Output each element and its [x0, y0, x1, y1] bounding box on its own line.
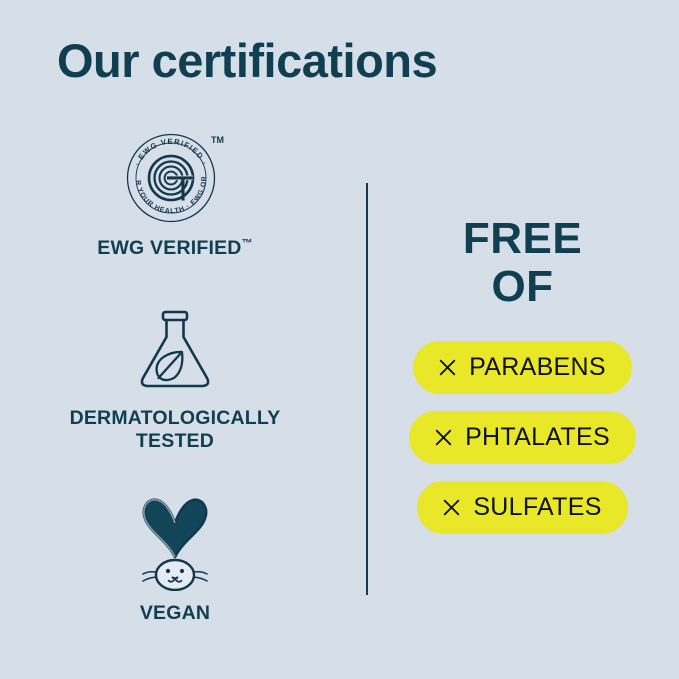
certification-item-vegan: VEGAN [0, 495, 350, 625]
page-title: Our certifications [57, 36, 437, 85]
certification-item-ewg: · EWG VERIFIED · · FOR YOUR HEALTH · EWG… [0, 130, 350, 260]
certifications-list: · EWG VERIFIED · · FOR YOUR HEALTH · EWG… [0, 130, 350, 625]
x-mark-icon [443, 499, 460, 516]
free-of-section: FREE OF PARABENS PHTALATES SULFATES [366, 183, 679, 595]
free-of-item-sulfates: SULFATES [417, 481, 627, 534]
vegan-bunny-heart-ears-icon [126, 495, 224, 591]
svg-text:TM: TM [211, 135, 224, 145]
free-of-item-label: PARABENS [469, 353, 606, 382]
x-mark-icon [435, 429, 452, 446]
spacer [0, 453, 350, 495]
x-mark-icon [439, 359, 456, 376]
ewg-verified-seal-icon: · EWG VERIFIED · · FOR YOUR HEALTH · EWG… [123, 130, 227, 226]
free-of-list: PARABENS PHTALATES SULFATES [366, 341, 679, 534]
spacer [0, 260, 350, 308]
free-of-item-label: SULFATES [473, 493, 601, 522]
flask-leaf-icon [132, 308, 218, 396]
free-of-item-label: PHTALATES [465, 423, 610, 452]
free-of-item-parabens: PARABENS [413, 341, 632, 394]
certification-item-dermatologically-tested: DERMATOLOGICALLY TESTED [0, 308, 350, 453]
certifications-panel: Our certifications · EWG VERIFIED · [0, 0, 679, 679]
certification-label-vegan: VEGAN [140, 602, 210, 625]
trademark-symbol: ™ [242, 238, 253, 250]
svg-text:· EWG VERIFIED ·: · EWG VERIFIED · [133, 137, 210, 167]
certification-label-ewg: EWG VERIFIED™ [97, 237, 253, 260]
certification-label-text: EWG VERIFIED [97, 237, 241, 259]
certification-label-dermatologically-tested: DERMATOLOGICALLY TESTED [70, 407, 281, 453]
free-of-item-phtalates: PHTALATES [409, 411, 636, 464]
free-of-heading: FREE OF [366, 215, 679, 310]
